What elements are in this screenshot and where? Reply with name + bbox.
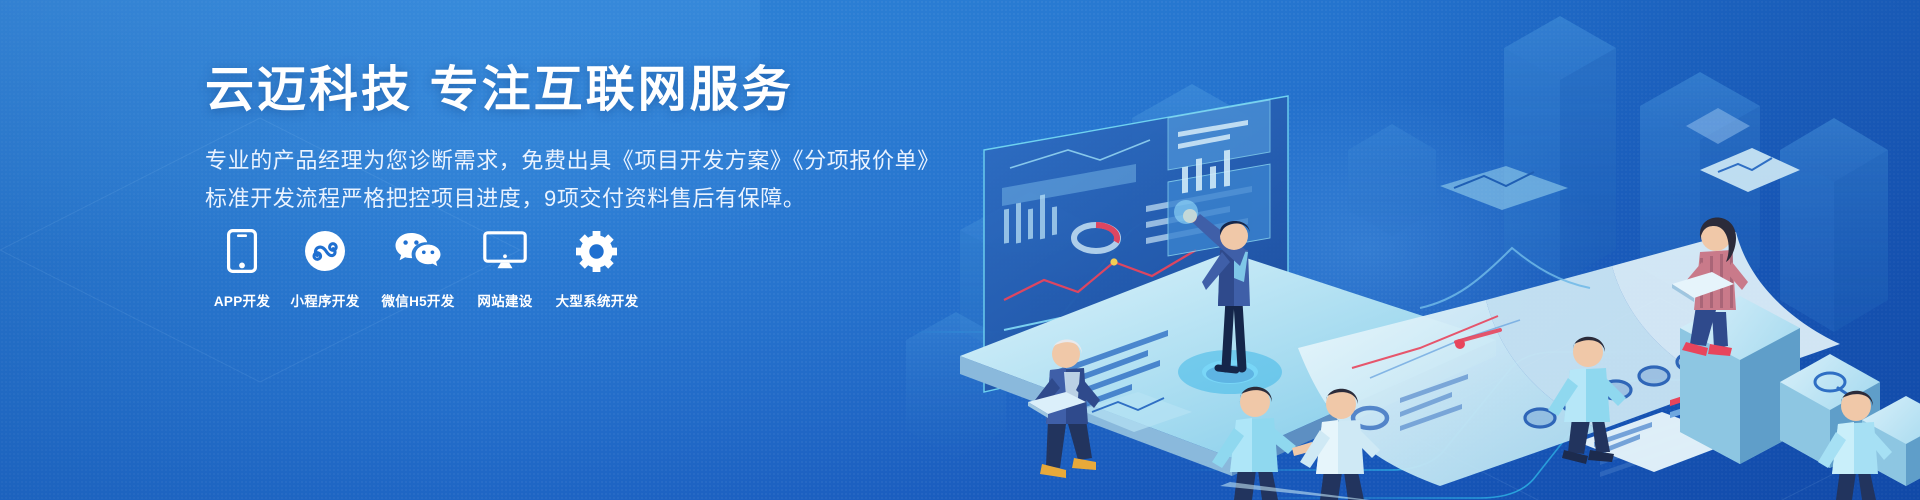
hero-subtitle: 专业的产品经理为您诊断需求，免费出具《项目开发方案》《分项报价单》 标准开发流程… xyxy=(205,143,905,216)
subtitle-line-1: 专业的产品经理为您诊断需求，免费出具《项目开发方案》《分项报价单》 xyxy=(205,143,905,179)
service-label-miniprogram: 小程序开发 xyxy=(291,290,360,310)
service-label-large-system: 大型系统开发 xyxy=(556,290,639,310)
wechat-icon xyxy=(394,228,442,274)
service-item-large-system[interactable]: 大型系统开发 xyxy=(545,228,649,310)
service-icon-row: APP开发 小程序开发 xyxy=(205,228,649,310)
service-label-app: APP开发 xyxy=(214,290,270,310)
mini-program-icon xyxy=(304,228,346,274)
hero-text-block: 云迈科技 专注互联网服务 专业的产品经理为您诊断需求，免费出具《项目开发方案》《… xyxy=(205,60,905,219)
service-label-wechat-h5: 微信H5开发 xyxy=(381,290,454,310)
subtitle-line-2: 标准开发流程严格把控项目进度，9项交付资料售后有保障。 xyxy=(205,181,905,217)
service-label-website: 网站建设 xyxy=(477,290,532,310)
hero-banner: 云迈科技 专注互联网服务 专业的产品经理为您诊断需求，免费出具《项目开发方案》《… xyxy=(0,0,1920,500)
service-item-wechat-h5[interactable]: 微信H5开发 xyxy=(371,228,465,310)
mobile-phone-icon xyxy=(227,228,257,274)
hero-illustration xyxy=(900,0,1920,500)
service-item-app[interactable]: APP开发 xyxy=(205,228,279,310)
gear-icon xyxy=(576,228,618,274)
page-title: 云迈科技 专注互联网服务 xyxy=(205,60,905,121)
service-item-website[interactable]: 网站建设 xyxy=(465,228,545,310)
monitor-icon xyxy=(483,228,527,274)
service-item-miniprogram[interactable]: 小程序开发 xyxy=(279,228,371,310)
